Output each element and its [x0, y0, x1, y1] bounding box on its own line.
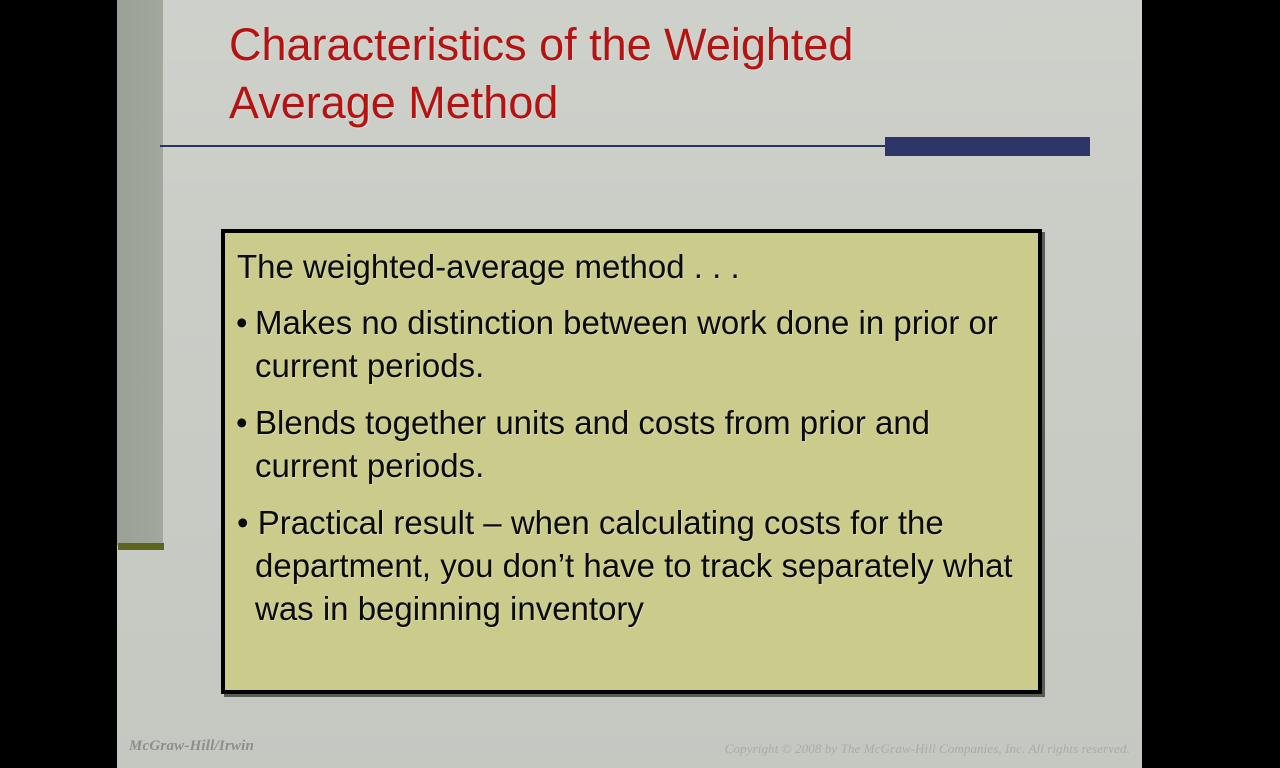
left-decorative-band	[117, 0, 163, 545]
footer-copyright: Copyright © 2008 by The McGraw-Hill Comp…	[725, 741, 1130, 757]
page-title: Characteristics of the Weighted Average …	[229, 16, 1059, 132]
content-box: The weighted-average method . . . • Make…	[221, 229, 1042, 694]
slide-canvas: Characteristics of the Weighted Average …	[117, 0, 1142, 768]
slide-root: Characteristics of the Weighted Average …	[0, 0, 1280, 768]
bullet-marker-icon: •	[236, 401, 248, 444]
list-item-label: Practical result – when calculating cost…	[249, 504, 1013, 627]
footer-brand: McGraw-Hill/Irwin	[129, 738, 254, 755]
list-item: • Blends together units and costs from p…	[233, 401, 1024, 487]
left-band-olive-accent	[118, 543, 164, 550]
list-item: • Practical result – when calculating co…	[233, 501, 1024, 630]
title-block: Characteristics of the Weighted Average …	[229, 16, 1059, 132]
content-box-inner: The weighted-average method . . . • Make…	[225, 233, 1038, 690]
list-item-label: Makes no distinction between work done i…	[255, 304, 998, 384]
list-item: • Makes no distinction between work done…	[233, 301, 1024, 387]
title-divider-navy-block	[885, 137, 1090, 156]
list-item-label: Blends together units and costs from pri…	[255, 404, 930, 484]
bullet-marker-icon: •	[236, 301, 248, 344]
title-divider-rule	[160, 145, 886, 147]
bullet-list: • Makes no distinction between work done…	[233, 301, 1024, 630]
bullet-marker-icon: •	[237, 504, 249, 541]
content-lead-line: The weighted-average method . . .	[233, 245, 1024, 289]
